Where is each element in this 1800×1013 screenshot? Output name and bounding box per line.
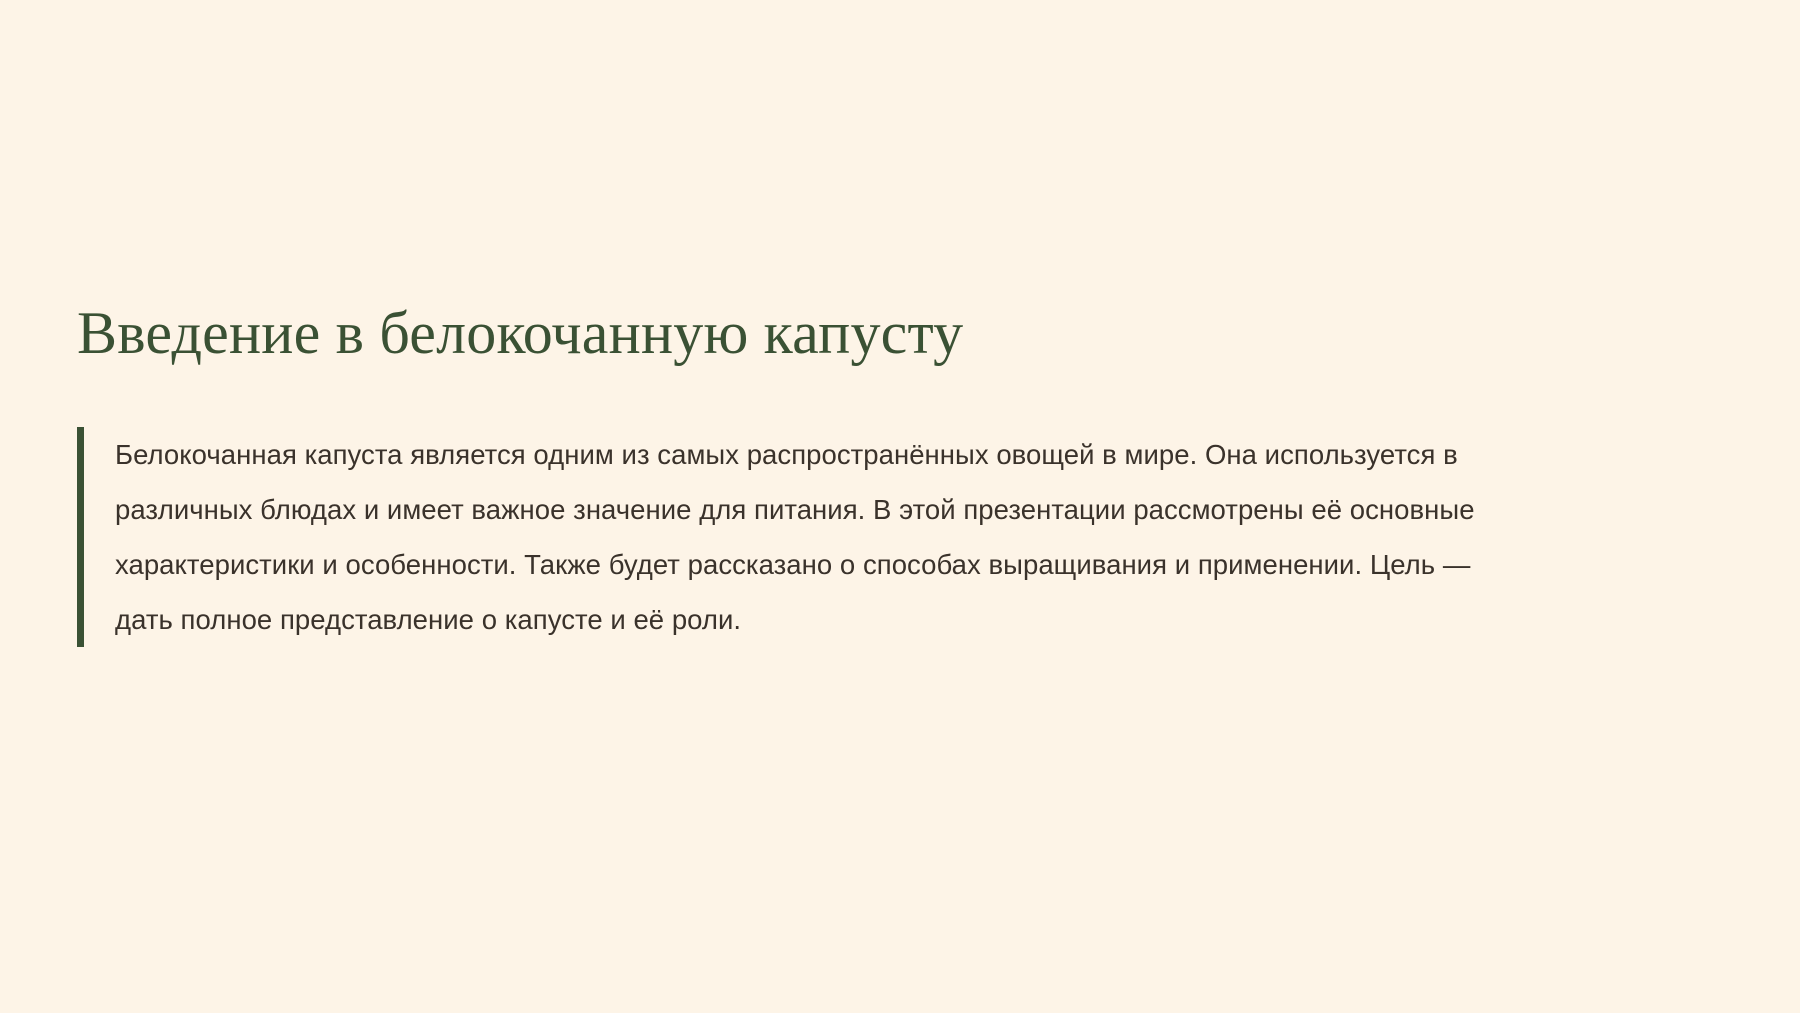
body-paragraph: Белокочанная капуста является одним из с…	[115, 427, 1521, 647]
left-accent-bar	[77, 427, 84, 647]
page-title: Введение в белокочанную капусту	[77, 300, 1717, 367]
presentation-slide: Введение в белокочанную капусту Белокоча…	[0, 0, 1800, 1013]
slide-content: Введение в белокочанную капусту Белокоча…	[77, 300, 1717, 647]
body-callout-block: Белокочанная капуста является одним из с…	[77, 427, 1717, 647]
